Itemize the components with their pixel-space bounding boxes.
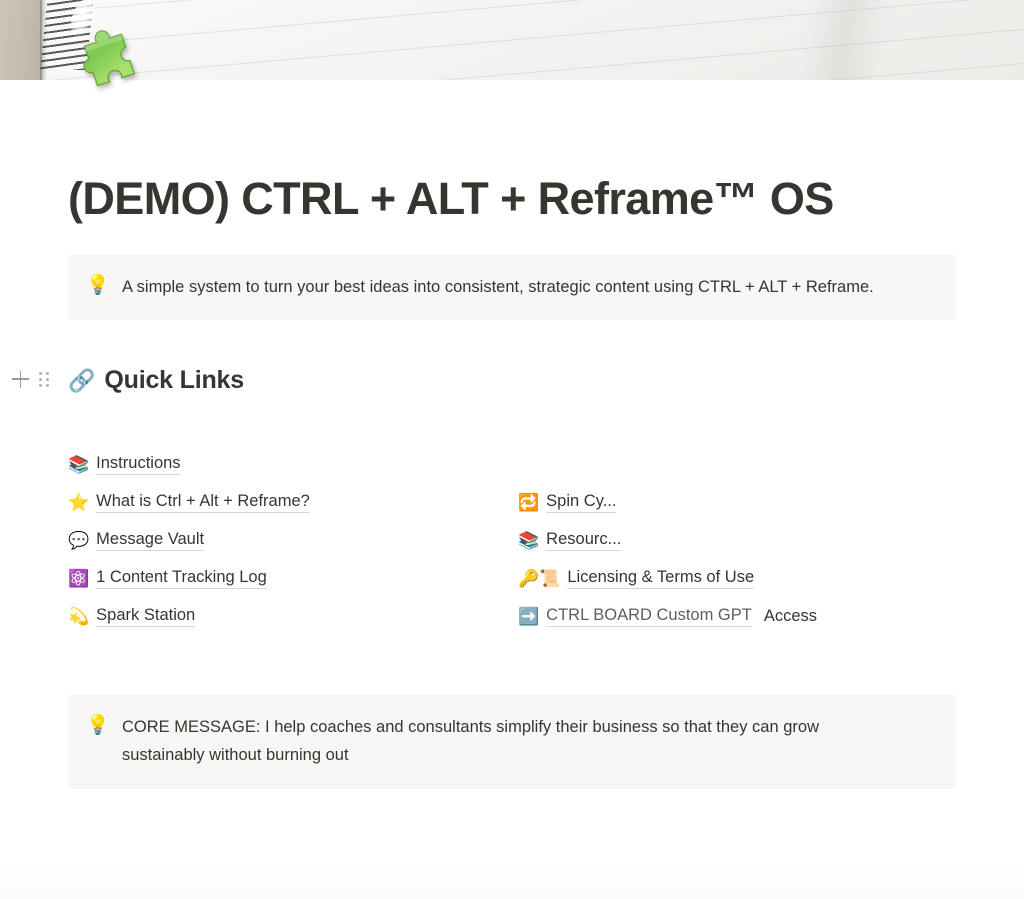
list-item[interactable]: ⭐ What is Ctrl + Alt + Reframe? xyxy=(68,484,518,522)
link-licensing-terms-of-use[interactable]: Licensing & Terms of Use xyxy=(567,568,754,589)
callout-intro-text: A simple system to turn your best ideas … xyxy=(122,273,874,301)
quick-links-columns: 📚 Instructions ⭐ What is Ctrl + Alt + Re… xyxy=(68,446,948,636)
link-resources[interactable]: Resourc... xyxy=(546,530,621,551)
link-message-vault[interactable]: Message Vault xyxy=(96,530,204,551)
books-icon: 📚 xyxy=(518,532,539,549)
list-item[interactable]: 💫 Spark Station xyxy=(68,598,518,636)
quick-links-heading-text: Quick Links xyxy=(104,366,244,395)
quick-links-right-column: 🔁 Spin Cy... 📚 Resourc... 🔑📜 Licensing &… xyxy=(518,446,948,636)
link-what-is-ctrl-alt-reframe[interactable]: What is Ctrl + Alt + Reframe? xyxy=(96,492,310,513)
link-ctrl-board-custom-gpt[interactable]: CTRL BOARD Custom GPT xyxy=(546,606,752,627)
quick-links-heading-block: 🔗 Quick Links xyxy=(0,362,1024,400)
link-chain-icon: 🔗 xyxy=(68,370,95,392)
callout-intro: 💡 A simple system to turn your best idea… xyxy=(68,254,956,320)
bottom-fade xyxy=(0,865,1024,899)
link-content-tracking-log[interactable]: 1 Content Tracking Log xyxy=(96,568,267,589)
speech-balloon-icon: 💬 xyxy=(68,532,89,549)
page-content: (DEMO) CTRL + ALT + Reframe™ OS 💡 A simp… xyxy=(0,80,1024,789)
books-icon: 📚 xyxy=(68,456,89,473)
sparkle-dizzy-icon: 💫 xyxy=(68,608,89,625)
callout-core-message: 💡 CORE MESSAGE: I help coaches and consu… xyxy=(68,694,956,789)
star-icon: ⭐ xyxy=(68,494,89,511)
lightbulb-icon: 💡 xyxy=(86,713,108,739)
quick-links-heading: 🔗 Quick Links xyxy=(68,366,244,395)
list-item[interactable]: 💬 Message Vault xyxy=(68,522,518,560)
quick-links-left-column: 📚 Instructions ⭐ What is Ctrl + Alt + Re… xyxy=(68,446,518,636)
notion-page: (DEMO) CTRL + ALT + Reframe™ OS 💡 A simp… xyxy=(0,0,1024,899)
drag-handle-icon[interactable] xyxy=(38,371,49,388)
link-spark-station[interactable]: Spark Station xyxy=(96,606,195,627)
repeat-arrows-icon: 🔁 xyxy=(518,494,539,511)
lightbulb-icon: 💡 xyxy=(86,273,108,299)
list-item[interactable]: 📚 Instructions xyxy=(68,446,518,484)
link-instructions[interactable]: Instructions xyxy=(96,454,180,475)
list-item[interactable]: ➡️ CTRL BOARD Custom GPT Access xyxy=(518,598,948,636)
block-controls xyxy=(12,371,49,388)
arrow-right-icon: ➡️ xyxy=(518,608,539,625)
add-block-icon[interactable] xyxy=(12,371,29,388)
list-item[interactable]: ⚛️ 1 Content Tracking Log xyxy=(68,560,518,598)
puzzle-piece-icon[interactable] xyxy=(67,22,159,114)
atom-icon: ⚛️ xyxy=(68,570,89,587)
link-suffix-access: Access xyxy=(764,607,817,626)
key-scroll-icon: 🔑📜 xyxy=(518,570,560,587)
cover-notebook-board xyxy=(0,0,42,80)
callout-core-message-text: CORE MESSAGE: I help coaches and consult… xyxy=(122,713,882,770)
list-item[interactable]: 📚 Resourc... xyxy=(518,522,948,560)
list-item[interactable]: 🔁 Spin Cy... xyxy=(518,484,948,522)
link-spin-cycle[interactable]: Spin Cy... xyxy=(546,492,616,513)
list-item[interactable]: 🔑📜 Licensing & Terms of Use xyxy=(518,560,948,598)
page-title: (DEMO) CTRL + ALT + Reframe™ OS xyxy=(68,174,1024,224)
